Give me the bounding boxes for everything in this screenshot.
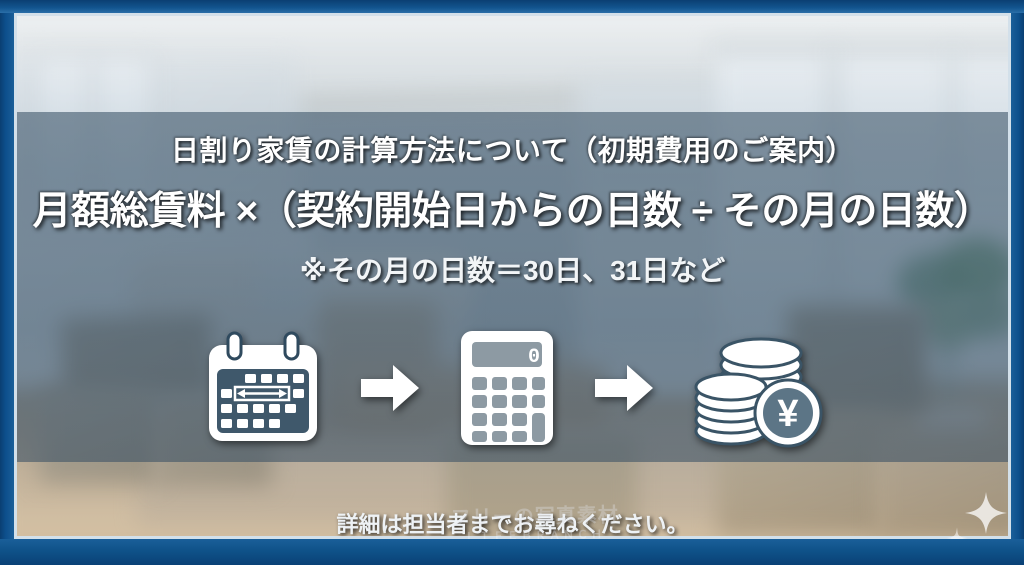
calculator-icon: 0 [455,327,559,449]
formula-text: 月額総賃料 ×（契約開始日からの日数 ÷ その月の日数） [17,180,1008,236]
formula-note: ※その月の日数＝30日、31日など [17,249,1008,289]
yen-symbol: ¥ [777,393,798,435]
calendar-icon [201,329,325,447]
footer-text: 詳細は担当者までお尋ねください。 [17,507,1008,539]
icon-row: 0 [17,318,1008,458]
frame-border-top [0,0,1024,13]
arrow-right-icon [359,361,421,415]
frame-border-bottom [0,539,1024,565]
frame-border-right [1011,0,1024,565]
frame-border-left [0,0,14,565]
page-title: 日割り家賃の計算方法について（初期費用のご案内） [17,129,1008,169]
calculator-display: 0 [527,346,539,369]
arrow-right-icon [593,361,655,415]
coins-yen-icon: ¥ [689,327,825,449]
slide-frame: 日割り家賃の計算方法について（初期費用のご案内） 月額総賃料 ×（契約開始日から… [0,0,1024,565]
